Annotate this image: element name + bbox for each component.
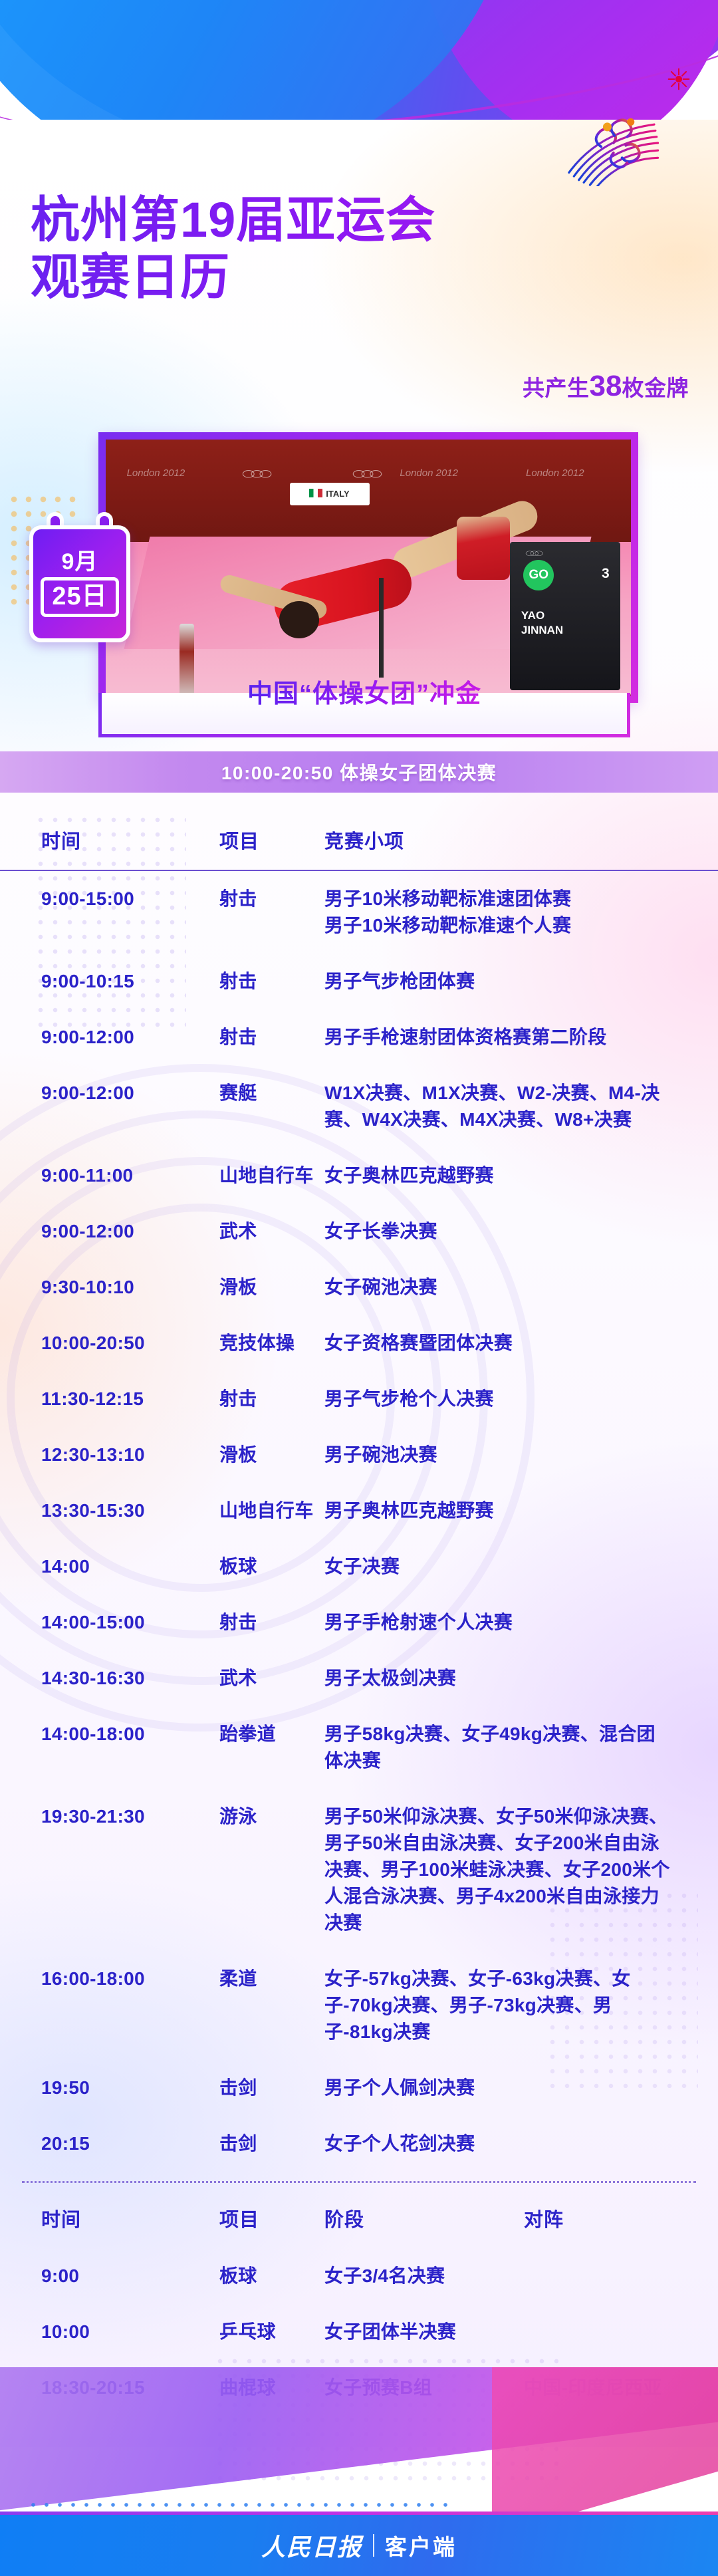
cell-time: 14:00-15:00 bbox=[0, 1595, 219, 1650]
cell-event: 女子资格赛暨团体决赛 bbox=[324, 1315, 718, 1371]
cell-time: 9:00-15:00 bbox=[0, 870, 219, 954]
cell-time: 11:30-12:15 bbox=[0, 1371, 219, 1427]
cell-event: 男子碗池决赛 bbox=[324, 1427, 718, 1483]
table-row: 9:00-12:00武术女子长拳决赛 bbox=[0, 1204, 718, 1259]
cell-sport: 射击 bbox=[219, 1371, 324, 1427]
country-label: ITALY bbox=[326, 489, 349, 499]
table-header-row-2: 时间 项目 阶段 对阵 bbox=[0, 2183, 718, 2248]
col-header-stage: 阶段 bbox=[324, 2183, 524, 2248]
app-label: 客户端 bbox=[385, 2529, 457, 2561]
table-row: 19:30-21:30游泳男子50米仰泳决赛、女子50米仰泳决赛、男子50米自由… bbox=[0, 1789, 718, 1951]
table-row: 12:30-13:10滑板男子碗池决赛 bbox=[0, 1427, 718, 1483]
col-header-time-2: 时间 bbox=[0, 2183, 219, 2248]
scoreboard-athlete-name: YAOJINNAN bbox=[521, 608, 563, 638]
highlight-event-bar: 10:00-20:50 体操女子团体决赛 bbox=[0, 751, 718, 793]
page-title: 杭州第19届亚运会 观赛日历 bbox=[31, 192, 669, 306]
section-divider bbox=[22, 2181, 696, 2183]
table-row: 20:15击剑女子个人花剑决赛 bbox=[0, 2116, 718, 2172]
publisher-brand: 人民日报 bbox=[261, 2528, 362, 2563]
cell-time: 13:30-15:30 bbox=[0, 1483, 219, 1539]
photo-venue-text-3: London 2012 bbox=[526, 467, 584, 479]
balance-beam bbox=[179, 624, 194, 696]
table-row: 19:50击剑男子个人佩剑决赛 bbox=[0, 2060, 718, 2116]
microphone-stand bbox=[379, 578, 384, 678]
cell-time: 14:00-18:00 bbox=[0, 1706, 219, 1789]
cell-match bbox=[524, 2304, 718, 2360]
cell-time: 10:00-20:50 bbox=[0, 1315, 219, 1371]
schedule-section: 时间 项目 竞赛小项 9:00-15:00射击男子10米移动靶标准速团体赛男子1… bbox=[0, 805, 718, 2416]
gold-note-number: 38 bbox=[590, 370, 622, 402]
olympic-rings-icon-2: ⬭⬭⬭ bbox=[352, 465, 378, 483]
table-row: 14:00-15:00射击男子手枪射速个人决赛 bbox=[0, 1595, 718, 1650]
cell-event: 男子手枪射速个人决赛 bbox=[324, 1595, 718, 1650]
cell-time: 9:00-11:00 bbox=[0, 1148, 219, 1204]
photo-teammate bbox=[457, 517, 510, 580]
gold-note-prefix: 共产生 bbox=[523, 376, 590, 400]
cell-sport: 击剑 bbox=[219, 2116, 324, 2172]
footer-bar: 人民日报 客户端 bbox=[0, 2515, 718, 2576]
cell-time: 14:30-16:30 bbox=[0, 1650, 219, 1706]
table-header-row: 时间 项目 竞赛小项 bbox=[0, 805, 718, 870]
table-row: 10:00-20:50竞技体操女子资格赛暨团体决赛 bbox=[0, 1315, 718, 1371]
cell-event: 女子碗池决赛 bbox=[324, 1259, 718, 1315]
scoreboard-number: 3 bbox=[602, 566, 610, 582]
cell-event: 男子气步枪个人决赛 bbox=[324, 1371, 718, 1427]
table-row: 13:30-15:30山地自行车男子奥林匹克越野赛 bbox=[0, 1483, 718, 1539]
table-row: 9:00-11:00山地自行车女子奥林匹克越野赛 bbox=[0, 1148, 718, 1204]
cell-sport: 武术 bbox=[219, 1650, 324, 1706]
cell-sport: 射击 bbox=[219, 1009, 324, 1065]
col-header-match: 对阵 bbox=[524, 2183, 718, 2248]
table-row: 14:00板球女子决赛 bbox=[0, 1539, 718, 1595]
cell-time: 9:00-12:00 bbox=[0, 1204, 219, 1259]
table-row: 9:00-12:00赛艇W1X决赛、M1X决赛、W2-决赛、M4-决赛、W4X决… bbox=[0, 1065, 718, 1148]
scoreboard-go-badge: GO bbox=[523, 560, 554, 590]
date-day: 25日 bbox=[41, 577, 118, 617]
cell-sport: 山地自行车 bbox=[219, 1148, 324, 1204]
photo-venue-text-2: London 2012 bbox=[400, 467, 458, 479]
country-placard: ITALY bbox=[290, 483, 370, 505]
italy-flag-icon bbox=[309, 489, 322, 497]
cell-event: 男子58kg决赛、女子49kg决赛、混合团体决赛 bbox=[324, 1706, 718, 1789]
col-header-sport: 项目 bbox=[219, 805, 324, 870]
photo-venue-text-1: London 2012 bbox=[127, 467, 185, 479]
schedule-table-main: 时间 项目 竞赛小项 9:00-15:00射击男子10米移动靶标准速团体赛男子1… bbox=[0, 805, 718, 2172]
poster-root: 杭州第19届亚运会 观赛日历 共产生38枚金牌 London 2012 ⬭⬭⬭ … bbox=[0, 0, 718, 2576]
cell-stage: 女子3/4名决赛 bbox=[324, 2248, 524, 2304]
cell-sport: 山地自行车 bbox=[219, 1483, 324, 1539]
table-row: 9:30-10:10滑板女子碗池决赛 bbox=[0, 1259, 718, 1315]
table-row: 10:00乒乓球女子团体半决赛 bbox=[0, 2304, 718, 2360]
table-row: 9:00-12:00射击男子手枪速射团体资格赛第二阶段 bbox=[0, 1009, 718, 1065]
cell-time: 9:30-10:10 bbox=[0, 1259, 219, 1315]
table-row: 14:30-16:30武术男子太极剑决赛 bbox=[0, 1650, 718, 1706]
cell-event: 男子10米移动靶标准速团体赛男子10米移动靶标准速个人赛 bbox=[324, 870, 718, 954]
cell-event: 男子气步枪团体赛 bbox=[324, 954, 718, 1009]
cell-event: 女子个人花剑决赛 bbox=[324, 2116, 718, 2172]
photo-caption: 中国“体操女团”冲金 bbox=[247, 673, 481, 709]
bottom-dot-row bbox=[27, 2500, 452, 2510]
cell-time: 9:00-10:15 bbox=[0, 954, 219, 1009]
hangzhou-asian-games-emblem-icon bbox=[561, 100, 661, 186]
table-row: 9:00-15:00射击男子10米移动靶标准速团体赛男子10米移动靶标准速个人赛 bbox=[0, 870, 718, 954]
footer-divider bbox=[373, 2534, 374, 2557]
cell-sport: 赛艇 bbox=[219, 1065, 324, 1148]
date-badge: 9月 25日 bbox=[29, 523, 130, 642]
cell-sport: 板球 bbox=[219, 1539, 324, 1595]
col-header-sport-2: 项目 bbox=[219, 2183, 324, 2248]
cell-event: 男子奥林匹克越野赛 bbox=[324, 1483, 718, 1539]
cell-event: W1X决赛、M1X决赛、W2-决赛、M4-决赛、W4X决赛、M4X决赛、W8+决… bbox=[324, 1065, 718, 1148]
title-line-2: 观赛日历 bbox=[31, 249, 669, 306]
cell-sport: 竞技体操 bbox=[219, 1315, 324, 1371]
cell-time: 12:30-13:10 bbox=[0, 1427, 219, 1483]
cell-event: 男子手枪速射团体资格赛第二阶段 bbox=[324, 1009, 718, 1065]
cell-sport: 乒乓球 bbox=[219, 2304, 324, 2360]
cell-sport: 射击 bbox=[219, 1595, 324, 1650]
table-row: 16:00-18:00柔道女子-57kg决赛、女子-63kg决赛、女子-70kg… bbox=[0, 1951, 718, 2060]
scoreboard: ⬭⬭⬭ GO 3 YAOJINNAN bbox=[510, 542, 620, 690]
cell-sport: 板球 bbox=[219, 2248, 324, 2304]
cell-stage: 女子团体半决赛 bbox=[324, 2304, 524, 2360]
cell-time: 10:00 bbox=[0, 2304, 219, 2360]
cell-time: 19:50 bbox=[0, 2060, 219, 2116]
cell-match bbox=[524, 2248, 718, 2304]
col-header-time: 时间 bbox=[0, 805, 219, 870]
bottom-decoration: 人民日报 客户端 bbox=[0, 2367, 718, 2576]
cell-time: 14:00 bbox=[0, 1539, 219, 1595]
olympic-rings-icon-3: ⬭⬭⬭ bbox=[526, 548, 539, 559]
title-line-1: 杭州第19届亚运会 bbox=[31, 192, 669, 249]
athlete-head bbox=[279, 601, 319, 638]
gold-medal-count: 共产生38枚金牌 bbox=[523, 370, 689, 403]
feature-photo: London 2012 ⬭⬭⬭ ⬭⬭⬭ London 2012 London 2… bbox=[98, 432, 638, 703]
cell-sport: 击剑 bbox=[219, 2060, 324, 2116]
cell-time: 19:30-21:30 bbox=[0, 1789, 219, 1951]
cell-sport: 游泳 bbox=[219, 1789, 324, 1951]
cell-time: 9:00-12:00 bbox=[0, 1009, 219, 1065]
photo-content: London 2012 ⬭⬭⬭ ⬭⬭⬭ London 2012 London 2… bbox=[106, 440, 631, 696]
cell-time: 16:00-18:00 bbox=[0, 1951, 219, 2060]
cell-event: 男子50米仰泳决赛、女子50米仰泳决赛、男子50米自由泳决赛、女子200米自由泳… bbox=[324, 1789, 718, 1951]
cell-time: 20:15 bbox=[0, 2116, 219, 2172]
cell-event: 男子太极剑决赛 bbox=[324, 1650, 718, 1706]
date-badge-body: 9月 25日 bbox=[29, 525, 130, 642]
cell-sport: 武术 bbox=[219, 1204, 324, 1259]
table-row: 9:00-10:15射击男子气步枪团体赛 bbox=[0, 954, 718, 1009]
cell-event: 女子长拳决赛 bbox=[324, 1204, 718, 1259]
highlight-event-text: 10:00-20:50 体操女子团体决赛 bbox=[221, 759, 497, 785]
cell-sport: 滑板 bbox=[219, 1427, 324, 1483]
cell-sport: 射击 bbox=[219, 954, 324, 1009]
cell-event: 男子个人佩剑决赛 bbox=[324, 2060, 718, 2116]
cell-time: 9:00-12:00 bbox=[0, 1065, 219, 1148]
sun-logo-icon bbox=[667, 68, 690, 90]
cell-sport: 柔道 bbox=[219, 1951, 324, 2060]
cell-sport: 滑板 bbox=[219, 1259, 324, 1315]
cell-event: 女子奥林匹克越野赛 bbox=[324, 1148, 718, 1204]
photo-caption-bar: 中国“体操女团”冲金 bbox=[98, 693, 630, 737]
olympic-rings-icon-1: ⬭⬭⬭ bbox=[242, 465, 267, 483]
gold-note-suffix: 枚金牌 bbox=[622, 376, 689, 400]
cell-event: 女子-57kg决赛、女子-63kg决赛、女子-70kg决赛、男子-73kg决赛、… bbox=[324, 1951, 718, 2060]
table-body-main: 9:00-15:00射击男子10米移动靶标准速团体赛男子10米移动靶标准速个人赛… bbox=[0, 870, 718, 2172]
col-header-event: 竞赛小项 bbox=[324, 805, 718, 870]
date-month: 9月 bbox=[62, 551, 98, 573]
cell-event: 女子决赛 bbox=[324, 1539, 718, 1595]
table-row: 9:00板球女子3/4名决赛 bbox=[0, 2248, 718, 2304]
cell-time: 9:00 bbox=[0, 2248, 219, 2304]
cell-sport: 射击 bbox=[219, 870, 324, 954]
table-row: 14:00-18:00跆拳道男子58kg决赛、女子49kg决赛、混合团体决赛 bbox=[0, 1706, 718, 1789]
cell-sport: 跆拳道 bbox=[219, 1706, 324, 1789]
table-row: 11:30-12:15射击男子气步枪个人决赛 bbox=[0, 1371, 718, 1427]
